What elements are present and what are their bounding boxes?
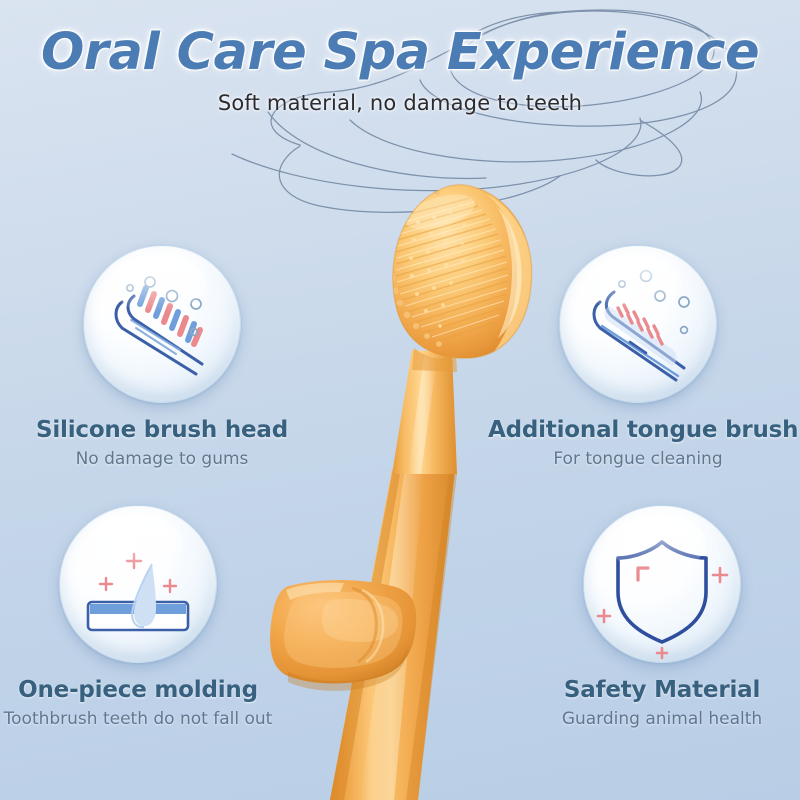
feature-subtitle: No damage to gums	[12, 449, 312, 469]
page-subtitle: Soft material, no damage to teeth	[0, 91, 800, 115]
feature-title: One-piece molding	[0, 677, 288, 703]
feature-subtitle: Guarding animal health	[512, 709, 800, 729]
feature-title: Safety Material	[512, 677, 800, 703]
feature-title: Silicone brush head	[12, 417, 312, 443]
feature-title: Additional tongue brush	[488, 417, 788, 443]
shield-icon	[583, 505, 741, 663]
page-title: Oral Care Spa Experience	[0, 26, 800, 80]
feature-subtitle: Toothbrush teeth do not fall out	[0, 709, 288, 729]
feature-subtitle: For tongue cleaning	[488, 449, 788, 469]
feature-safety-material: Safety Material Guarding animal health	[512, 505, 800, 729]
toothbrush-bristles-icon	[83, 245, 241, 403]
feature-additional-tongue-brush: Additional tongue brush For tongue clean…	[488, 245, 788, 469]
tongue-brush-icon	[559, 245, 717, 403]
poster-header: Oral Care Spa Experience Soft material, …	[0, 26, 800, 115]
feature-silicone-brush-head: Silicone brush head No damage to gums	[12, 245, 312, 469]
feature-one-piece-molding: One-piece molding Toothbrush teeth do no…	[0, 505, 288, 729]
one-piece-mold-icon	[59, 505, 217, 663]
product-infographic-poster: Oral Care Spa Experience Soft material, …	[0, 0, 800, 800]
